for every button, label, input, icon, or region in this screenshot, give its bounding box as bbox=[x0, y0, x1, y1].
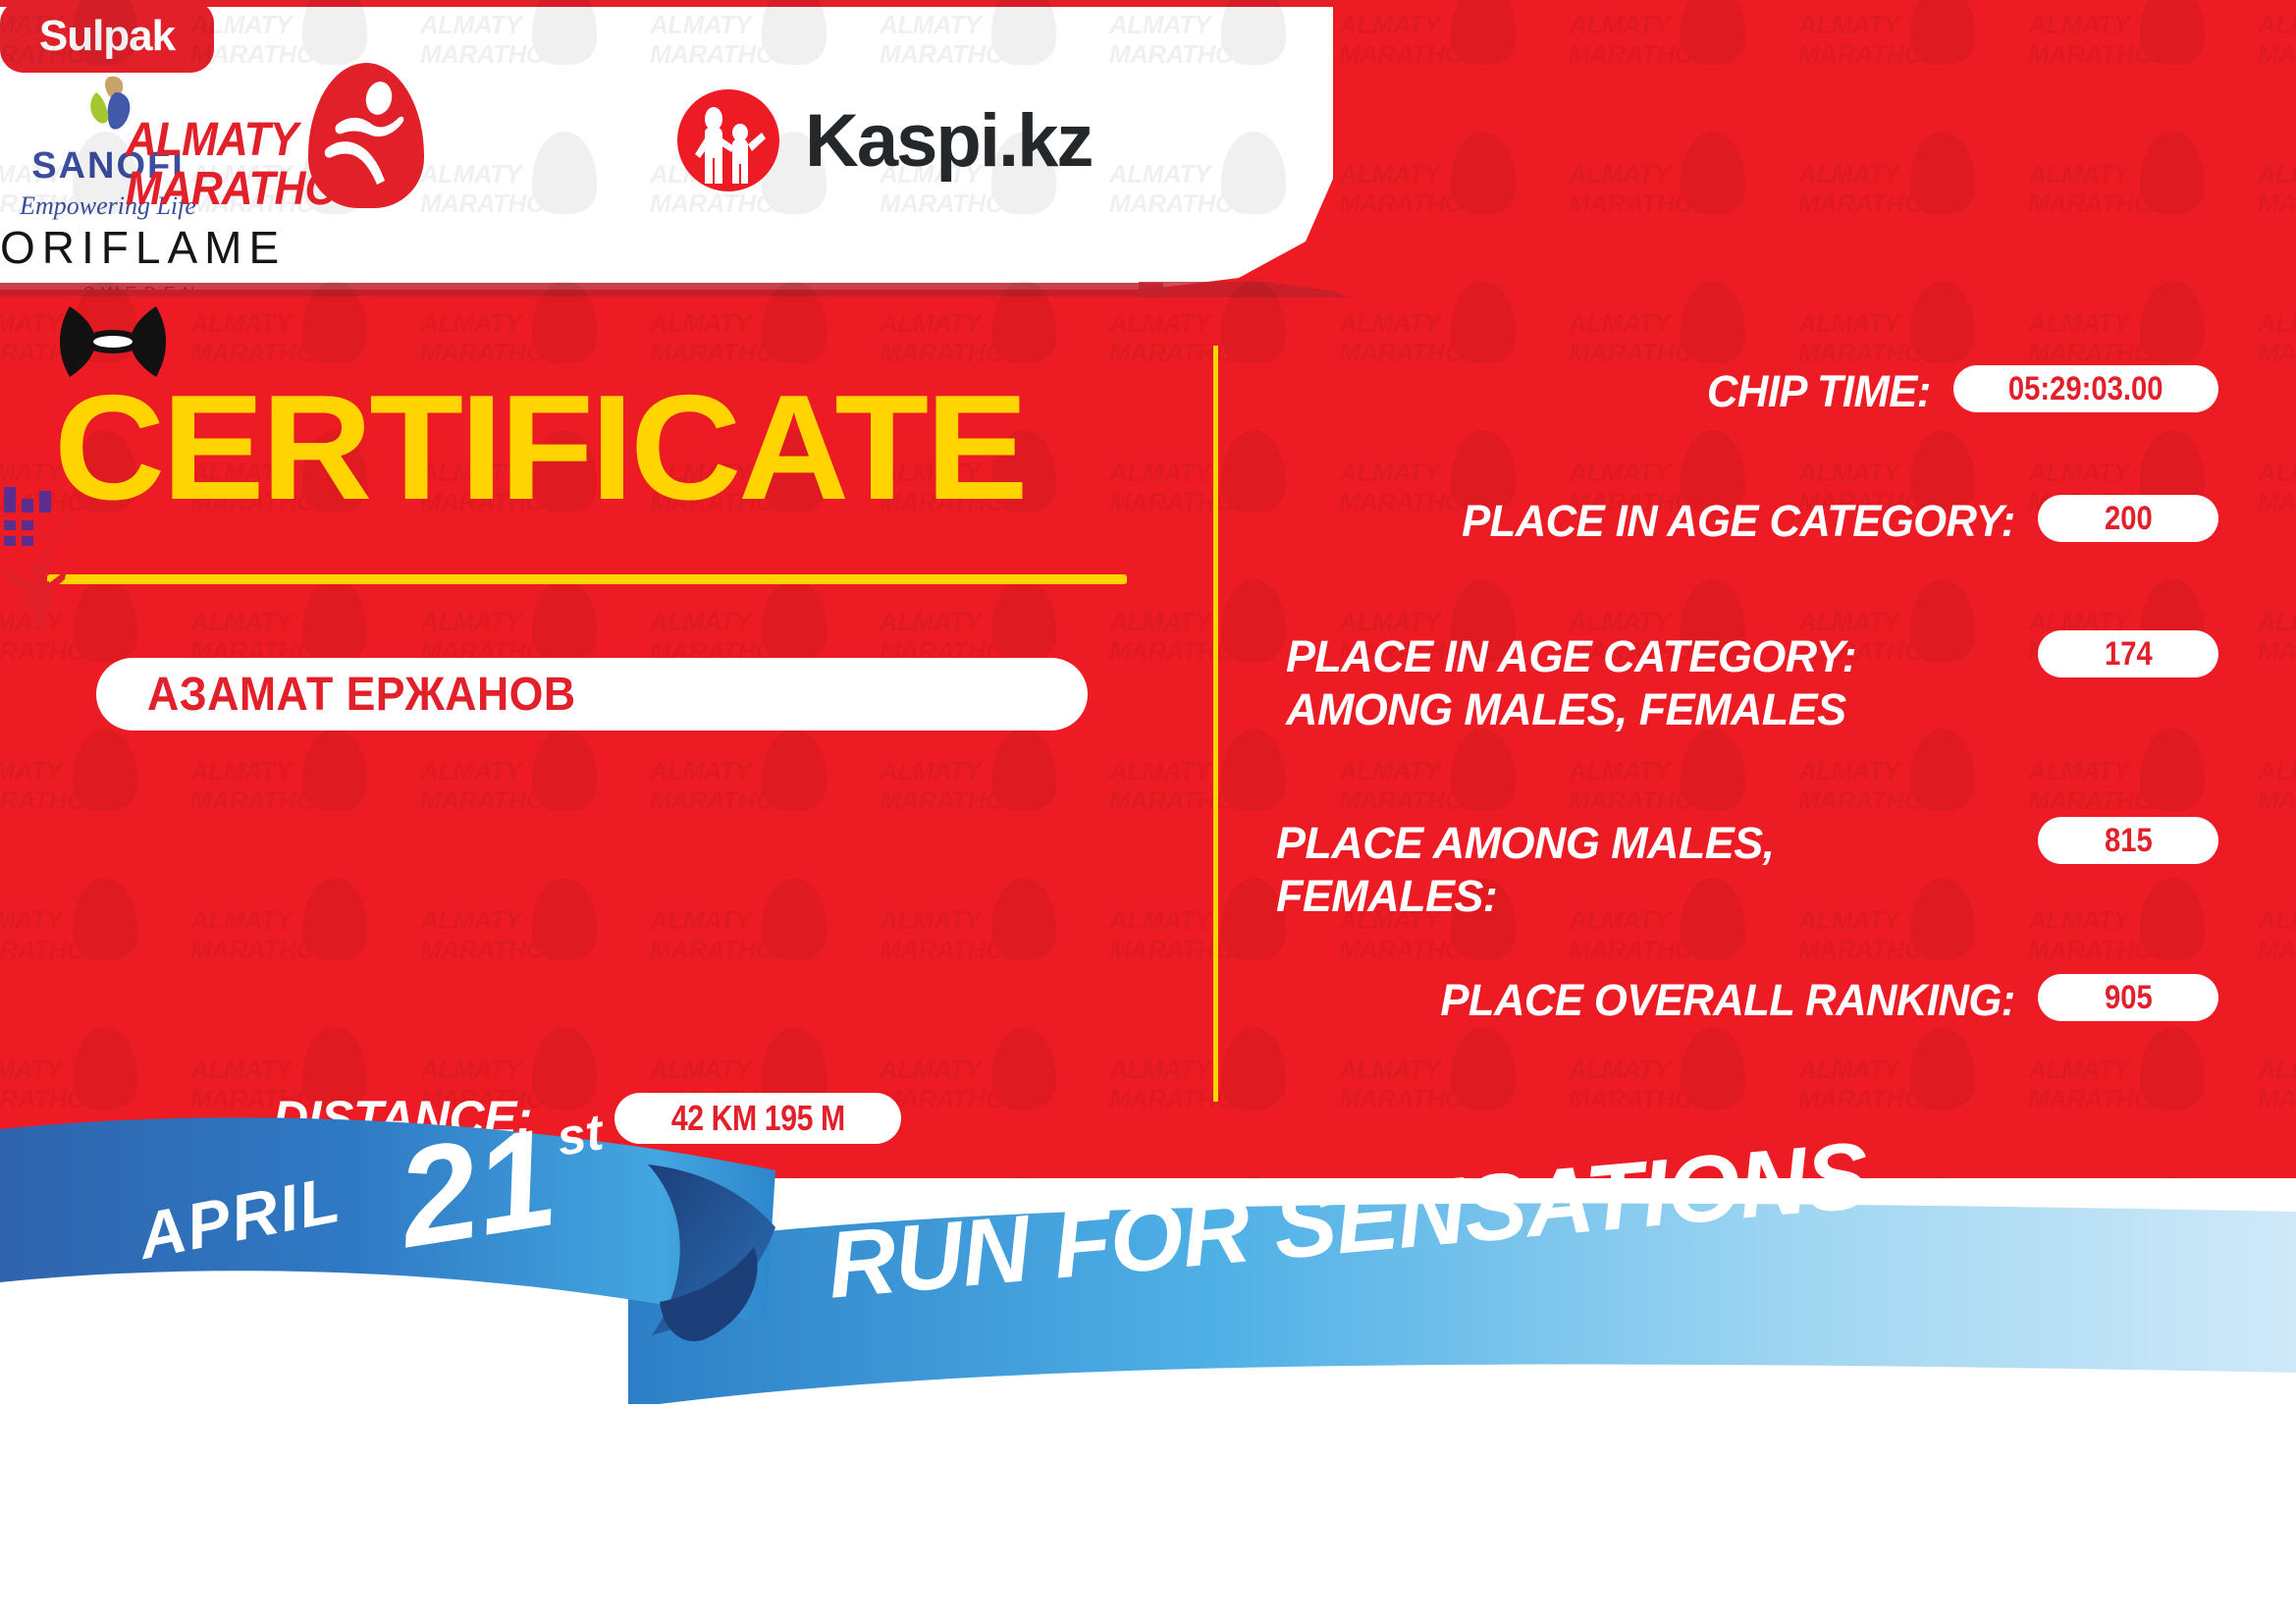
result-value: 174 bbox=[2105, 635, 2153, 674]
brand-line-2: MARATHON bbox=[126, 163, 368, 215]
result-label: PLACE AMONG MALES,FEMALES: bbox=[1276, 817, 2038, 923]
result-value: 815 bbox=[2105, 822, 2153, 860]
result-label-line-2: FEMALES: bbox=[1276, 871, 1497, 921]
participant-name-field: АЗАМАТ ЕРЖАНОВ bbox=[96, 658, 1088, 731]
result-row: PLACE IN AGE CATEGORY:AMONG MALES, FEMAL… bbox=[1276, 630, 2218, 736]
certificate-page: ALMATYMARATHONALMATYMARATHONALMATYMARATH… bbox=[0, 0, 2296, 1624]
result-label: PLACE IN AGE CATEGORY: bbox=[1299, 495, 2038, 548]
result-label-line-2: AMONG MALES, FEMALES bbox=[1286, 684, 1846, 734]
courage-fund-logo-icon: CORPORATE FUND bbox=[0, 554, 69, 630]
result-value: 200 bbox=[2105, 500, 2153, 538]
sanofi-logo-icon bbox=[67, 73, 149, 141]
header: ALMATY MARATHON Kaspi.kz bbox=[0, 0, 1335, 285]
participant-name-value: АЗАМАТ ЕРЖАНОВ bbox=[147, 668, 576, 722]
result-value-pill: 200 bbox=[2038, 495, 2218, 542]
result-label: PLACE OVERALL RANKING: bbox=[1299, 974, 2038, 1027]
ribbon-day: 21 bbox=[385, 1110, 565, 1277]
almaty-marathon-logo: ALMATY MARATHON bbox=[126, 63, 450, 220]
result-label: CHIP TIME: bbox=[1297, 365, 1953, 418]
page-title: CERTIFICATE bbox=[54, 373, 1025, 522]
kaspi-logo: Kaspi.kz bbox=[677, 86, 1092, 194]
result-row: CHIP TIME:05:29:03.00 bbox=[1276, 365, 2218, 418]
result-value-pill: 905 bbox=[2038, 974, 2218, 1021]
result-label-line-1: PLACE AMONG MALES, bbox=[1276, 818, 1775, 868]
result-row: PLACE IN AGE CATEGORY:200 bbox=[1276, 495, 2218, 548]
brand-line-1: ALMATY bbox=[126, 114, 297, 166]
event-ribbon: APRIL 21 st RUN FOR SENSATIONS bbox=[0, 1110, 2296, 1404]
title-underline bbox=[47, 574, 1127, 584]
kaspi-family-circle-icon bbox=[677, 89, 779, 191]
result-value-pill: 05:29:03.00 bbox=[1953, 365, 2218, 412]
result-value-pill: 815 bbox=[2038, 817, 2218, 864]
kaspi-wordmark: Kaspi.kz bbox=[805, 98, 1092, 184]
result-value: 05:29:03.00 bbox=[2008, 370, 2163, 408]
result-value: 905 bbox=[2105, 979, 2153, 1017]
result-value-pill: 174 bbox=[2038, 630, 2218, 677]
under-armour-logo-icon bbox=[50, 304, 176, 379]
almaty-marathon-wordmark: ALMATY MARATHON bbox=[126, 116, 368, 214]
column-divider bbox=[1213, 346, 1218, 1102]
result-row: PLACE OVERALL RANKING:905 bbox=[1276, 974, 2218, 1027]
result-label-line-1: PLACE IN AGE CATEGORY: bbox=[1286, 631, 1856, 681]
sponsor-strip bbox=[0, 1404, 2296, 1624]
left-column: CERTIFICATE АЗАМАТ ЕРЖАНОВ DISTANCE: 42 … bbox=[0, 295, 1207, 1149]
result-row: PLACE AMONG MALES,FEMALES:815 bbox=[1276, 817, 2218, 923]
ribbon-day-suffix: st bbox=[553, 1110, 609, 1167]
ribbon-graphic: APRIL 21 st RUN FOR SENSATIONS bbox=[0, 1110, 2296, 1404]
result-label: PLACE IN AGE CATEGORY:AMONG MALES, FEMAL… bbox=[1286, 630, 2038, 736]
